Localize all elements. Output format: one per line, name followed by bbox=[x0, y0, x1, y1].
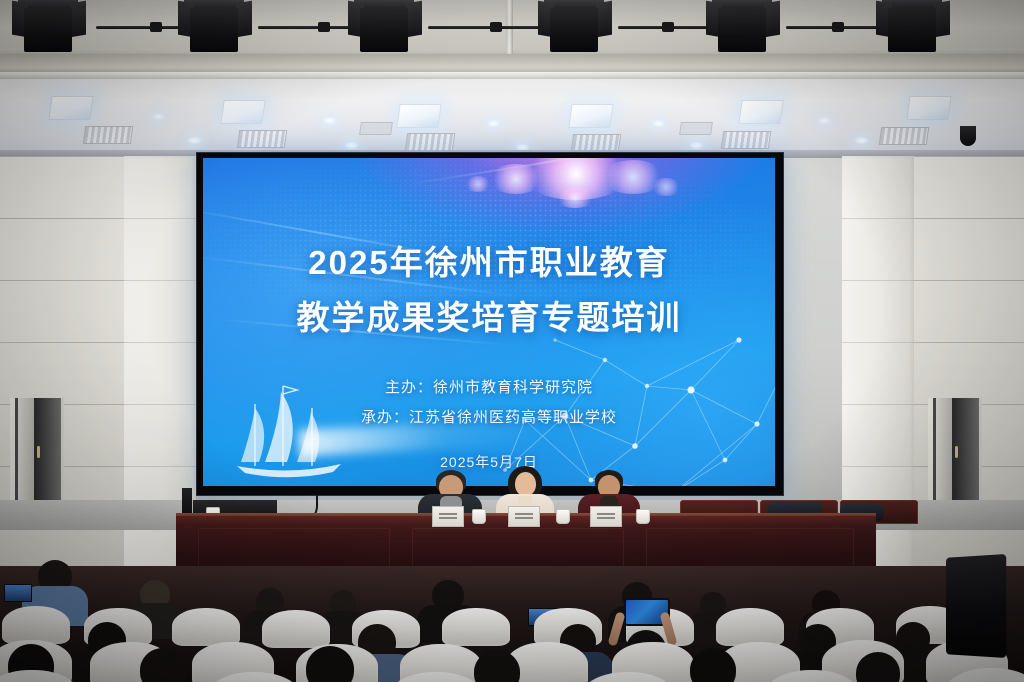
stage-light-6 bbox=[876, 0, 950, 52]
name-card bbox=[432, 506, 464, 527]
audience-area bbox=[0, 566, 1024, 682]
ceiling-camera-icon bbox=[960, 126, 976, 146]
name-card bbox=[590, 506, 622, 527]
conference-hall-photo: 2025年徐州市职业教育 教学成果奖培育专题培训 主办：徐州市教育科学研究院 承… bbox=[0, 0, 1024, 682]
laptop[interactable] bbox=[4, 584, 32, 602]
cup bbox=[556, 509, 570, 524]
door-left[interactable] bbox=[10, 398, 64, 516]
cup bbox=[472, 509, 486, 524]
screen-co-organizer-line: 承办：江苏省徐州医药高等职业学校 bbox=[203, 406, 775, 427]
door-right[interactable] bbox=[928, 398, 982, 516]
name-card bbox=[508, 506, 540, 527]
screen-date-line: 2025年5月7日 bbox=[203, 452, 775, 472]
stage-light-2 bbox=[178, 0, 252, 52]
right-side-pa-speaker bbox=[946, 554, 1006, 658]
led-screen[interactable]: 2025年徐州市职业教育 教学成果奖培育专题培训 主办：徐州市教育科学研究院 承… bbox=[203, 158, 775, 486]
stage-light-3 bbox=[348, 0, 422, 52]
screen-title-line-2: 教学成果奖培育专题培训 bbox=[203, 291, 775, 339]
screen-organizer-line: 主办：徐州市教育科学研究院 bbox=[203, 376, 775, 397]
ceiling-cornice bbox=[0, 72, 1024, 79]
cup bbox=[636, 509, 650, 524]
stage-light-4 bbox=[538, 0, 612, 52]
screen-title-line-1: 2025年徐州市职业教育 bbox=[203, 236, 775, 284]
stage-light-5 bbox=[706, 0, 780, 52]
stage-light-1 bbox=[12, 0, 86, 52]
